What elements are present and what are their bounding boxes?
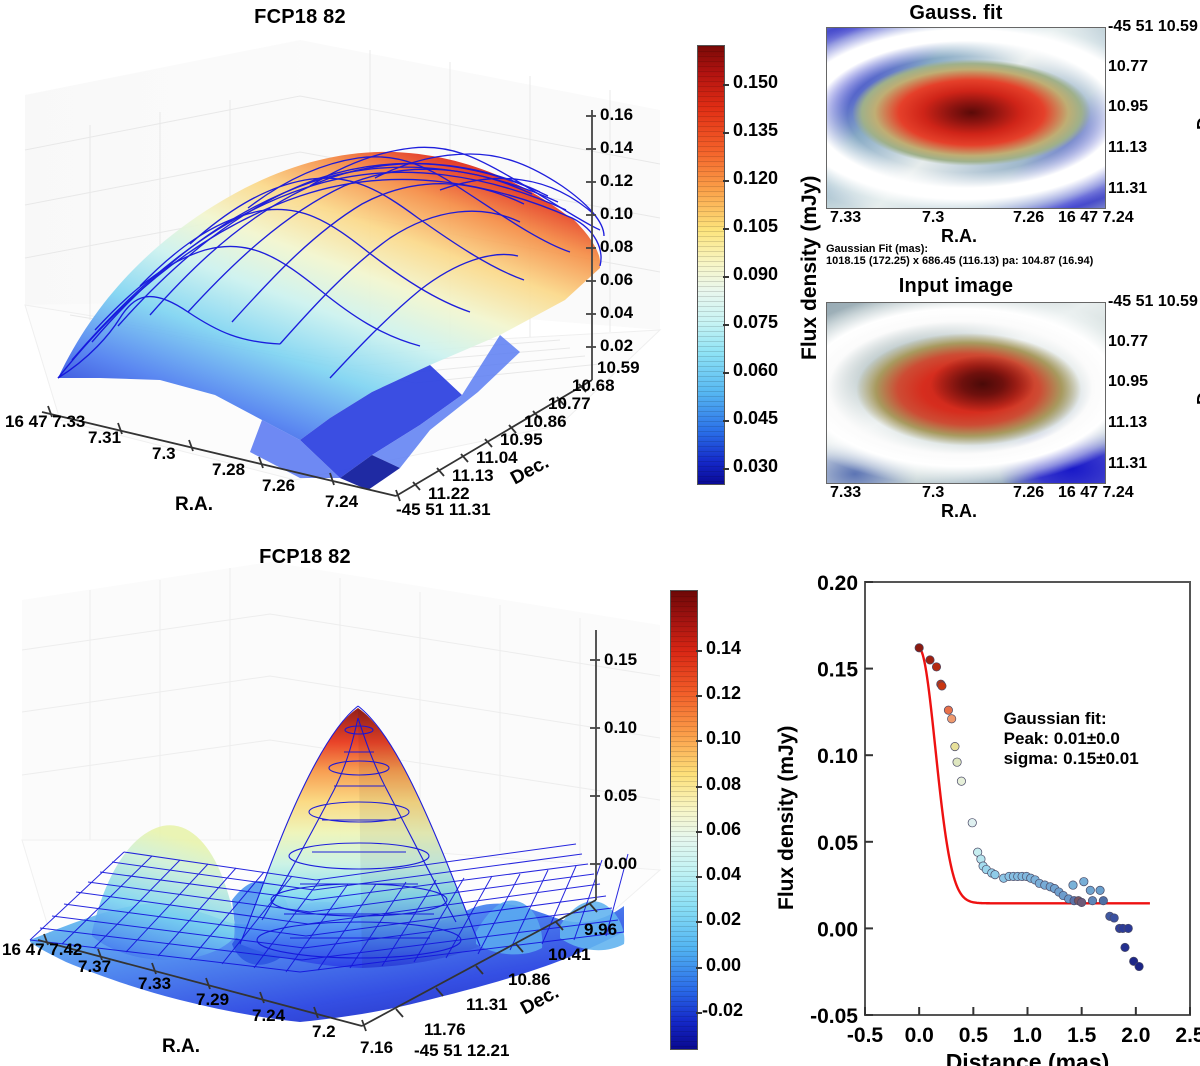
z-tick: 0.16 bbox=[600, 105, 633, 125]
colorbar-tick bbox=[723, 132, 729, 134]
z-tick: 0.04 bbox=[600, 303, 633, 323]
z-tick: 0.06 bbox=[600, 270, 633, 290]
x-tick: 7.24 bbox=[325, 492, 358, 512]
fit-annotation: sigma: 0.15±0.01 bbox=[1004, 749, 1139, 768]
colorbar-tick bbox=[723, 84, 729, 86]
gaussian-fit-curve bbox=[919, 649, 1150, 904]
z-tick: 0.12 bbox=[600, 171, 633, 191]
y-tick-2: 11.76 bbox=[424, 1020, 466, 1040]
x-axis-label-2: R.A. bbox=[162, 1036, 200, 1058]
colorbar-tick-2 bbox=[696, 831, 702, 833]
y-tick-2: 11.31 bbox=[466, 995, 508, 1015]
colorbar-tick bbox=[723, 180, 729, 182]
data-point[interactable] bbox=[1099, 896, 1107, 904]
input-image-x-axis-label: R.A. bbox=[941, 501, 977, 522]
data-point[interactable] bbox=[1077, 898, 1085, 906]
y-tick: 10.77 bbox=[548, 394, 591, 414]
y-tick-label: 0.05 bbox=[817, 832, 858, 855]
x-tick-label: 1.0 bbox=[1013, 1024, 1042, 1047]
panel-gauss-fit-image: Gauss. fit -45 51 10.59 10.77 10.95 11.1… bbox=[806, 0, 1200, 265]
colorbar-discrete-lines-2 bbox=[671, 591, 697, 1049]
y-tick-label: 0.00 bbox=[817, 918, 858, 941]
y-tick-label: 0.15 bbox=[817, 659, 858, 682]
surface-plot-gaussian-fit bbox=[0, 0, 690, 530]
x-tick-label: 0.0 bbox=[905, 1024, 934, 1047]
colorbar-tick-2 bbox=[696, 650, 702, 652]
x-tick-2: 16 47 7.42 bbox=[2, 940, 82, 960]
colorbar-top[interactable] bbox=[697, 45, 725, 485]
radial-profile-chart[interactable]: -0.50.00.51.01.52.02.50.200.150.100.050.… bbox=[795, 560, 1200, 1066]
colorbar-tick-label: 0.150 bbox=[733, 72, 778, 93]
x-tick-2: 7.37 bbox=[78, 957, 111, 977]
colorbar-bottom[interactable] bbox=[670, 590, 698, 1050]
data-point[interactable] bbox=[1121, 943, 1129, 951]
plot-frame bbox=[865, 582, 1190, 1015]
page-title-2: FCP18 82 bbox=[155, 546, 455, 569]
y-tick: 10.68 bbox=[572, 376, 615, 396]
colorbar-tick-2 bbox=[696, 921, 702, 923]
colorbar-tick-label-2: 0.14 bbox=[706, 638, 741, 659]
data-point[interactable] bbox=[1069, 881, 1077, 889]
colorbar-tick-2 bbox=[696, 876, 702, 878]
colorbar-tick-label-2: 0.04 bbox=[706, 864, 741, 885]
x-tick: 7.28 bbox=[212, 460, 245, 480]
data-point[interactable] bbox=[1124, 924, 1132, 932]
x-tick: 7.31 bbox=[88, 428, 121, 448]
gauss-fit-annotation-line1: Gaussian Fit (mas): bbox=[826, 243, 928, 255]
input-image-x-tick: 7.33 bbox=[830, 484, 861, 502]
y-tick: -45 51 11.31 bbox=[396, 500, 491, 520]
data-point[interactable] bbox=[1086, 886, 1094, 894]
gauss-fit-x-tick: 7.3 bbox=[922, 209, 944, 227]
colorbar-tick-label-2: -0.02 bbox=[702, 1000, 743, 1021]
colorbar-bottom-group: 0.14 0.12 0.10 0.08 0.06 0.04 0.02 0.00 … bbox=[660, 540, 780, 1066]
colorbar-tick-2 bbox=[696, 786, 702, 788]
colorbar-tick-label: 0.120 bbox=[733, 168, 778, 189]
x-tick: 7.3 bbox=[152, 444, 176, 464]
y-tick-2: -45 51 12.21 bbox=[414, 1041, 509, 1061]
data-point[interactable] bbox=[1096, 886, 1104, 894]
gauss-fit-y-tick: 10.95 bbox=[1108, 98, 1148, 116]
y-tick-label: 0.10 bbox=[817, 745, 858, 768]
gauss-fit-annotation-line2: 1018.15 (172.25) x 686.45 (116.13) pa: 1… bbox=[826, 255, 1093, 267]
colorbar-tick bbox=[723, 468, 729, 470]
input-image[interactable] bbox=[826, 302, 1106, 484]
data-point[interactable] bbox=[926, 656, 934, 664]
input-image-x-tick: 7.3 bbox=[922, 484, 944, 502]
data-point[interactable] bbox=[944, 706, 952, 714]
gauss-fit-x-tick: 7.26 bbox=[1013, 209, 1044, 227]
input-image-x-tick: 16 47 7.24 bbox=[1058, 484, 1134, 502]
colorbar-tick-label-2: 0.06 bbox=[706, 819, 741, 840]
colorbar-tick-label-2: 0.08 bbox=[706, 774, 741, 795]
gauss-fit-y-tick: 11.31 bbox=[1108, 180, 1147, 198]
colorbar-tick-label-2: 0.02 bbox=[706, 909, 741, 930]
z-tick: 0.02 bbox=[600, 336, 633, 356]
colorbar-discrete-lines bbox=[698, 46, 724, 484]
colorbar-tick-2 bbox=[696, 967, 702, 969]
z-tick-2: 0.05 bbox=[604, 786, 637, 806]
colorbar-tick-label: 0.075 bbox=[733, 312, 778, 333]
input-image-y-tick: -45 51 10.59 bbox=[1108, 293, 1198, 311]
colorbar-tick-label: 0.135 bbox=[733, 120, 778, 141]
data-point[interactable] bbox=[1088, 896, 1096, 904]
y-tick-label: -0.05 bbox=[810, 1005, 858, 1028]
panel-input-image: Input image -45 51 10.59 10.77 10.95 11.… bbox=[806, 275, 1200, 525]
data-point[interactable] bbox=[915, 644, 923, 652]
x-tick-label: 1.5 bbox=[1067, 1024, 1097, 1047]
x-tick-2: 7.24 bbox=[252, 1006, 285, 1026]
colorbar-tick bbox=[723, 228, 729, 230]
input-image-y-axis-label: Dec. bbox=[1194, 367, 1200, 405]
panel-surface-input-image: FCP18 82 bbox=[0, 540, 690, 1066]
input-image-y-tick: 11.31 bbox=[1108, 455, 1147, 473]
colorbar-tick-label: 0.060 bbox=[733, 360, 778, 381]
y-tick: 11.04 bbox=[476, 448, 518, 468]
data-point[interactable] bbox=[991, 871, 999, 879]
x-tick-label: 2.0 bbox=[1121, 1024, 1150, 1047]
z-tick: 0.14 bbox=[600, 138, 633, 158]
data-point[interactable] bbox=[951, 742, 959, 750]
x-axis-label: Distance (mas) bbox=[946, 1049, 1110, 1066]
input-image-y-tick: 10.77 bbox=[1108, 333, 1148, 351]
data-point[interactable] bbox=[938, 682, 946, 690]
colorbar-tick bbox=[723, 276, 729, 278]
x-tick-2: 7.16 bbox=[360, 1038, 393, 1058]
input-image-y-tick: 10.95 bbox=[1108, 373, 1148, 391]
colorbar-tick-label-2: 0.10 bbox=[706, 728, 741, 749]
x-tick-label: 0.5 bbox=[959, 1024, 989, 1047]
gauss-fit-y-tick: 11.13 bbox=[1108, 139, 1147, 157]
colorbar-tick-label-2: 0.12 bbox=[706, 683, 741, 704]
x-tick-label: 2.5 bbox=[1175, 1024, 1200, 1047]
gauss-fit-x-tick: 16 47 7.24 bbox=[1058, 209, 1134, 227]
x-tick-2: 7.2 bbox=[312, 1022, 336, 1042]
input-image-title: Input image bbox=[806, 275, 1106, 298]
gauss-fit-title: Gauss. fit bbox=[806, 2, 1106, 25]
panel-surface-gaussian-fit: FCP18 82 bbox=[0, 0, 690, 530]
colorbar-tick-label: 0.045 bbox=[733, 408, 778, 429]
gauss-fit-y-tick: 10.77 bbox=[1108, 58, 1148, 76]
colorbar-tick bbox=[723, 324, 729, 326]
colorbar-top-group: 0.150 0.135 0.120 0.105 0.090 0.075 0.06… bbox=[690, 0, 800, 530]
colorbar-tick-label: 0.090 bbox=[733, 264, 778, 285]
y-tick: 11.13 bbox=[452, 466, 494, 486]
input-image-x-tick: 7.26 bbox=[1013, 484, 1044, 502]
colorbar-tick-2 bbox=[696, 740, 702, 742]
y-tick: 10.59 bbox=[597, 358, 640, 378]
gauss-fit-x-tick: 7.33 bbox=[830, 209, 861, 227]
x-tick-2: 7.33 bbox=[138, 974, 171, 994]
fit-annotation: Gaussian fit: bbox=[1004, 709, 1107, 728]
z-tick-2: 0.10 bbox=[604, 718, 637, 738]
y-tick-2: 9.96 bbox=[584, 920, 617, 940]
x-axis-label: R.A. bbox=[175, 494, 213, 516]
colorbar-tick bbox=[723, 420, 729, 422]
colorbar-tick-2 bbox=[696, 695, 702, 697]
x-tick-2: 7.29 bbox=[196, 990, 229, 1010]
panel-radial-profile: -0.50.00.51.01.52.02.50.200.150.100.050.… bbox=[795, 560, 1200, 1066]
y-tick: 10.86 bbox=[524, 412, 567, 432]
fit-annotation: Peak: 0.01±0.0 bbox=[1004, 729, 1120, 748]
z-tick-2: 0.00 bbox=[604, 854, 637, 874]
gauss-fit-image[interactable] bbox=[826, 27, 1106, 209]
data-point[interactable] bbox=[957, 777, 965, 785]
z-tick: 0.10 bbox=[600, 204, 633, 224]
input-image-y-tick: 11.13 bbox=[1108, 414, 1147, 432]
x-tick: 16 47 7.33 bbox=[5, 412, 85, 432]
gauss-fit-y-tick: -45 51 10.59 bbox=[1108, 18, 1198, 36]
data-point[interactable] bbox=[1135, 962, 1143, 970]
data-point[interactable] bbox=[1110, 914, 1118, 922]
colorbar-tick-label: 0.105 bbox=[733, 216, 778, 237]
z-tick: 0.08 bbox=[600, 237, 633, 257]
data-point[interactable] bbox=[1080, 877, 1088, 885]
data-point[interactable] bbox=[947, 715, 955, 723]
y-tick-2: 10.41 bbox=[548, 945, 591, 965]
x-tick: 7.26 bbox=[262, 476, 295, 496]
data-point[interactable] bbox=[953, 758, 961, 766]
page-title: FCP18 82 bbox=[150, 6, 450, 29]
gauss-fit-x-axis-label: R.A. bbox=[941, 226, 977, 247]
gauss-fit-y-axis-label: Dec. bbox=[1194, 92, 1200, 130]
y-tick: 10.95 bbox=[500, 430, 543, 450]
data-point[interactable] bbox=[968, 819, 976, 827]
y-tick-label: 0.20 bbox=[817, 572, 858, 595]
colorbar-tick-label-2: 0.00 bbox=[706, 955, 741, 976]
colorbar-tick-label: 0.030 bbox=[733, 456, 778, 477]
z-tick-2: 0.15 bbox=[604, 650, 637, 670]
surface-plot-input-image bbox=[0, 540, 690, 1066]
colorbar-tick bbox=[723, 372, 729, 374]
data-point[interactable] bbox=[932, 663, 940, 671]
